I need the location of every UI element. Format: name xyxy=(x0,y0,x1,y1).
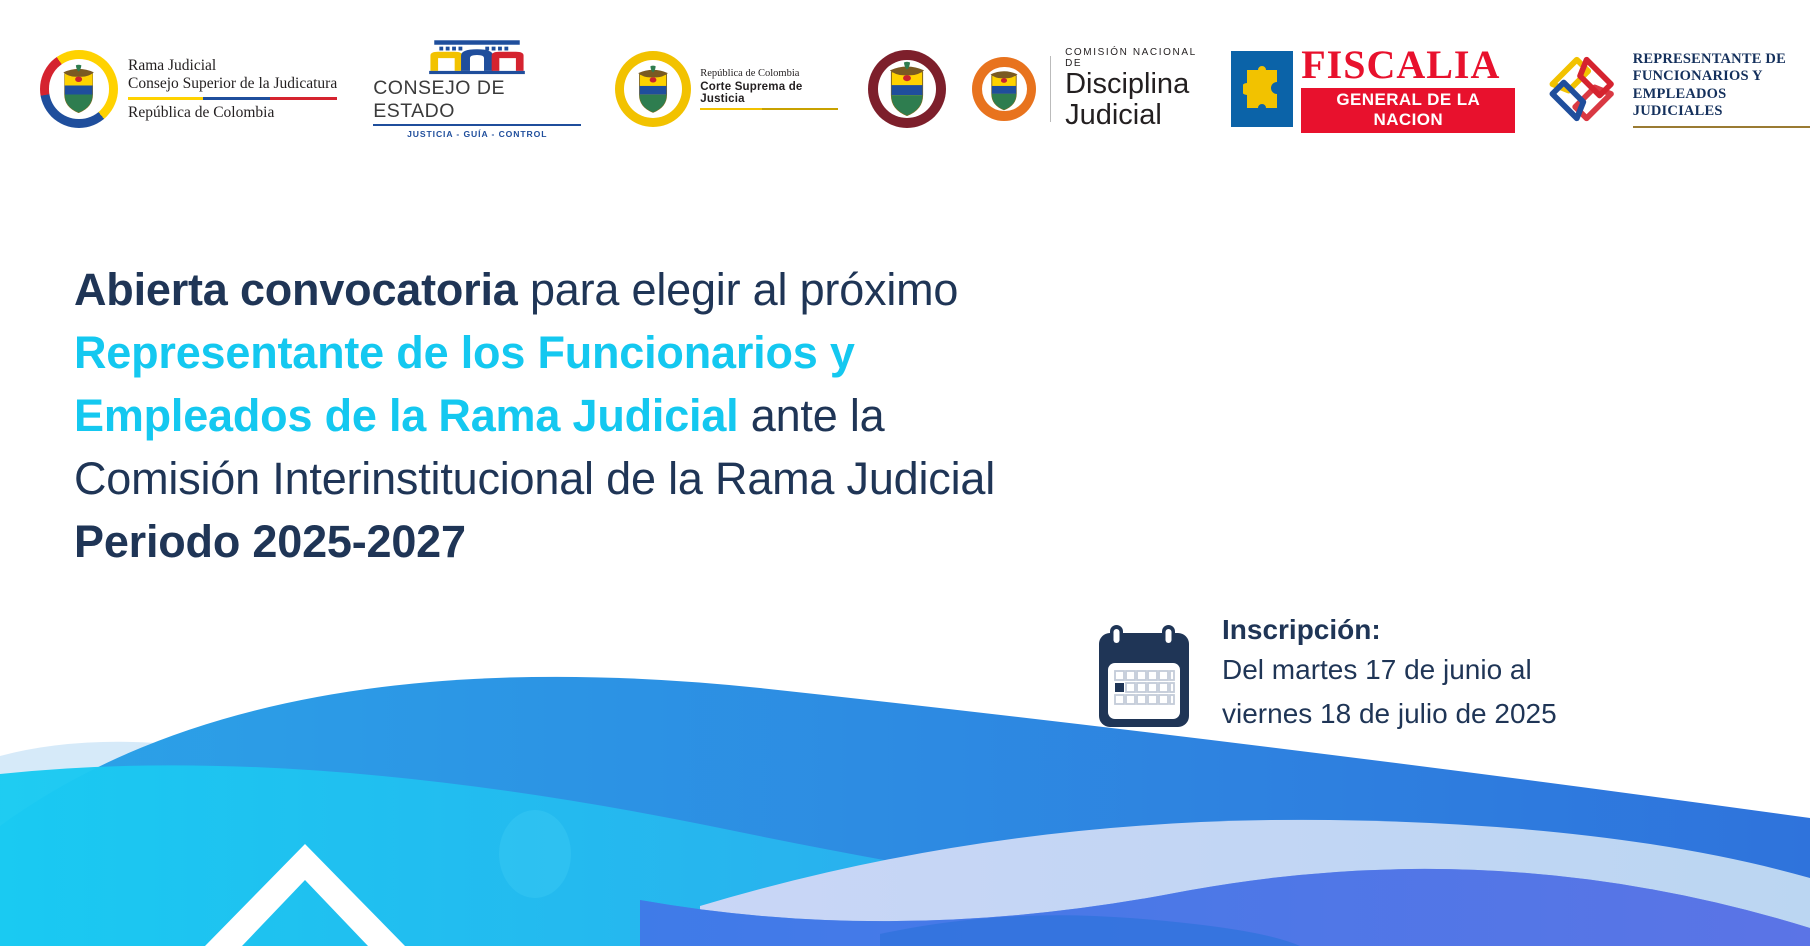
logo-line-3: República de Colombia xyxy=(128,104,337,122)
fiscalia-bar: GENERAL DE LA NACION xyxy=(1301,88,1515,133)
logo-consejo-title: CONSEJO DE ESTADO xyxy=(373,77,581,126)
gold-rule xyxy=(700,108,838,110)
logo-line-3: EMPLEADOS JUDICIALES xyxy=(1633,86,1810,121)
headline-emphasis: Abierta convocatoria xyxy=(74,264,518,315)
colombia-coat-of-arms-icon xyxy=(615,51,691,127)
headline-highlight: Empleados de la Rama Judicial xyxy=(74,390,738,441)
logo-line-2: Judicial xyxy=(1065,100,1205,131)
logo-line-1: Rama Judicial xyxy=(128,57,337,76)
gold-rule xyxy=(1633,126,1810,128)
colombia-coat-of-arms-icon xyxy=(40,50,118,128)
building-arches-icon xyxy=(402,39,552,76)
headline-line-1: Abierta convocatoria para elegir al próx… xyxy=(74,258,1374,321)
shield-icon xyxy=(879,61,935,117)
logo-representante-funcionarios: REPRESENTANTE DE FUNCIONARIOS Y EMPLEADO… xyxy=(1541,39,1810,139)
headline-line-5-period: Periodo 2025-2027 xyxy=(74,510,1374,573)
logo-line-2: Consejo Superior de la Judicatura xyxy=(128,75,337,94)
decorative-wave-graphic xyxy=(0,646,1810,946)
headline-text: para elegir al próximo xyxy=(518,264,959,315)
logo-corte-suprema-text: República de Colombia Corte Suprema de J… xyxy=(700,68,838,110)
fiscalia-word: FISCALIA xyxy=(1301,45,1515,85)
headline-line-2: Representante de los Funcionarios y xyxy=(74,321,1374,384)
logo-consejo-de-estado: CONSEJO DE ESTADO JUSTICIA - GUÍA - CONT… xyxy=(373,39,581,139)
tricolor-rule xyxy=(128,97,337,100)
headline-text: ante la xyxy=(738,390,884,441)
headline-highlight: Representante de los Funcionarios y xyxy=(74,327,855,378)
logo-line-1: Disciplina xyxy=(1065,69,1205,100)
logo-comision-nacional-disciplina-judicial: COMISIÓN NACIONAL DE Disciplina Judicial xyxy=(972,39,1205,139)
shield-icon xyxy=(631,65,675,114)
fiscalia-puzzle-icon xyxy=(1231,51,1293,127)
logo-line-1: República de Colombia xyxy=(700,68,838,79)
vertical-divider xyxy=(1050,56,1051,122)
institutional-logo-bar: Rama Judicial Consejo Superior de la Jud… xyxy=(0,34,1810,144)
logo-representante-text: REPRESENTANTE DE FUNCIONARIOS Y EMPLEADO… xyxy=(1633,51,1810,128)
logo-line-2: Corte Suprema de Justicia xyxy=(700,81,838,105)
headline-line-4: Comisión Interinstitucional de la Rama J… xyxy=(74,447,1374,510)
logo-consejo-subtitle: JUSTICIA - GUÍA - CONTROL xyxy=(407,129,547,139)
logo-rama-judicial-text: Rama Judicial Consejo Superior de la Jud… xyxy=(128,57,337,122)
headline: Abierta convocatoria para elegir al próx… xyxy=(74,258,1374,573)
logo-fiscalia-general-de-la-nacion: FISCALIA GENERAL DE LA NACION xyxy=(1231,39,1515,139)
corte-constitucional-seal-icon xyxy=(868,50,946,128)
poster-canvas: Rama Judicial Consejo Superior de la Jud… xyxy=(0,0,1810,946)
logo-line-1: REPRESENTANTE DE xyxy=(1633,51,1810,69)
logo-corte-suprema-de-justicia: República de Colombia Corte Suprema de J… xyxy=(615,39,838,139)
shield-icon xyxy=(56,64,101,114)
shield-icon xyxy=(982,67,1026,111)
logo-line-2: FUNCIONARIOS Y xyxy=(1633,68,1810,86)
logo-rama-judicial: Rama Judicial Consejo Superior de la Jud… xyxy=(40,39,337,139)
logo-disciplina-text: COMISIÓN NACIONAL DE Disciplina Judicial xyxy=(1065,47,1205,131)
four-hands-icon xyxy=(1541,46,1622,132)
headline-line-3: Empleados de la Rama Judicial ante la xyxy=(74,384,1374,447)
logo-eyebrow: COMISIÓN NACIONAL DE xyxy=(1065,47,1205,69)
logo-corte-constitucional xyxy=(868,39,946,139)
fiscalia-wordmark: FISCALIA GENERAL DE LA NACION xyxy=(1301,45,1515,133)
puzzle-piece-icon xyxy=(1243,66,1281,112)
disciplina-judicial-seal-icon xyxy=(972,57,1036,121)
inscription-title: Inscripción: xyxy=(1222,612,1557,648)
